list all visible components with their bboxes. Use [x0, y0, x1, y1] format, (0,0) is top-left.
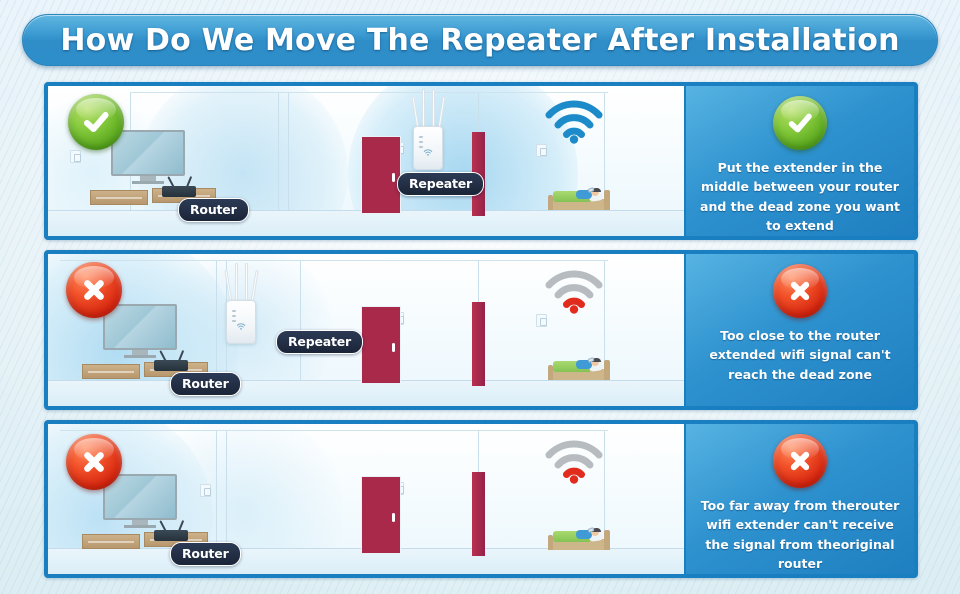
- label-router: Router: [178, 198, 249, 222]
- repeater-antenna: [235, 263, 238, 304]
- repeater-led: [232, 320, 236, 322]
- repeater-led: [232, 315, 236, 317]
- tv-base: [124, 355, 156, 358]
- router-device: [162, 186, 196, 197]
- bed-headboard: [604, 190, 610, 210]
- door-knob: [392, 173, 395, 182]
- note-text: Put the extender in the middle between y…: [686, 158, 914, 236]
- tv-screen: [103, 304, 177, 350]
- scenario-panel-too-close: Router Repeater Too close to the router …: [44, 250, 918, 410]
- wifi-signal-icon: [543, 436, 605, 484]
- router-device: [154, 530, 188, 541]
- wall-socket: [70, 150, 81, 163]
- wall-divider: [288, 92, 289, 210]
- status-badge-no: [773, 434, 827, 488]
- repeater-led: [419, 141, 423, 143]
- tv-base: [132, 181, 164, 184]
- scene-illustration-2: Router Repeater: [48, 254, 684, 406]
- note-panel-2: Too close to the router extended wifi si…: [684, 254, 914, 406]
- media-cabinet: [90, 190, 148, 205]
- door-closed: [361, 476, 401, 554]
- ceiling-line: [130, 92, 608, 93]
- bed-with-person: [548, 526, 610, 550]
- media-cabinet: [82, 534, 140, 549]
- wall-socket: [536, 314, 547, 327]
- repeater-body: [226, 300, 256, 344]
- door-knob: [392, 343, 395, 352]
- wall-divider: [216, 260, 217, 380]
- repeater-antenna: [250, 270, 258, 304]
- repeater-body: [413, 126, 443, 170]
- label-router: Router: [170, 372, 241, 396]
- repeater-led: [419, 146, 423, 148]
- repeater-device: [226, 300, 256, 344]
- note-text: Too far away from therouter wifi extende…: [686, 496, 914, 574]
- wall-divider: [300, 260, 301, 380]
- door-closed: [361, 136, 401, 214]
- wifi-signal-icon: [543, 96, 605, 144]
- repeater-antenna: [437, 96, 445, 130]
- scene-illustration-3: Router: [48, 424, 684, 574]
- bed-headboard: [604, 360, 610, 380]
- ceiling-line: [60, 260, 608, 261]
- tv-screen: [111, 130, 185, 176]
- wall-divider: [278, 92, 279, 210]
- door-knob: [392, 513, 395, 522]
- status-badge-no: [66, 262, 122, 318]
- media-cabinet: [82, 364, 140, 379]
- tv-base: [124, 525, 156, 528]
- repeater-led: [232, 310, 236, 312]
- label-repeater: Repeater: [276, 330, 363, 354]
- note-panel-3: Too far away from therouter wifi extende…: [684, 424, 914, 574]
- note-panel-1: Put the extender in the middle between y…: [684, 86, 914, 236]
- scenario-panel-good: Router Repeater Put the extender in the …: [44, 82, 918, 240]
- scene-illustration-1: Router Repeater: [48, 86, 684, 236]
- label-repeater: Repeater: [397, 172, 484, 196]
- wall-divider: [226, 430, 227, 548]
- ceiling-line: [60, 430, 608, 431]
- wall-socket: [536, 144, 547, 157]
- television: [103, 304, 177, 358]
- repeater-device: [413, 126, 443, 170]
- repeater-antenna: [245, 263, 248, 304]
- status-badge-ok: [773, 96, 827, 150]
- page-title-banner: How Do We Move The Repeater After Instal…: [22, 14, 938, 66]
- scenario-panel-too-far: Router Too far away from therouter wifi …: [44, 420, 918, 578]
- status-badge-ok: [68, 94, 124, 150]
- repeater-wifi-logo: [424, 149, 433, 156]
- label-router: Router: [170, 542, 241, 566]
- door-closed: [361, 306, 401, 384]
- repeater-antenna: [411, 96, 419, 130]
- repeater-antenna: [432, 89, 435, 130]
- door-open: [472, 472, 485, 556]
- bed-headboard: [604, 530, 610, 550]
- wall-socket: [200, 484, 211, 497]
- repeater-wifi-logo: [237, 323, 246, 330]
- status-badge-no: [773, 264, 827, 318]
- television: [111, 130, 185, 184]
- page-title: How Do We Move The Repeater After Instal…: [60, 23, 899, 58]
- status-badge-no: [66, 434, 122, 490]
- repeater-antenna: [422, 89, 425, 130]
- wifi-signal-icon: [543, 266, 605, 314]
- bed-with-person: [548, 186, 610, 210]
- wall-divider: [216, 430, 217, 548]
- door-open: [472, 302, 485, 386]
- television: [103, 474, 177, 528]
- repeater-led: [419, 136, 423, 138]
- router-device: [154, 360, 188, 371]
- bed-with-person: [548, 356, 610, 380]
- note-text: Too close to the router extended wifi si…: [686, 326, 914, 384]
